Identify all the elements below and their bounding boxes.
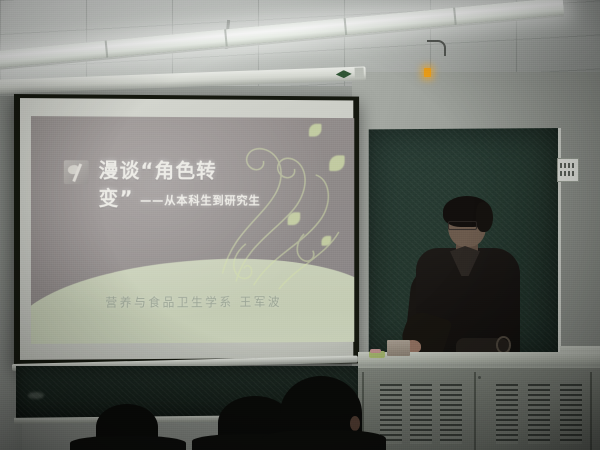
projector-screen: 漫谈“角色转 变” ——从本科生到研究生 营养与食品卫生学系 王军波 [14, 94, 359, 366]
student-shoulders-1 [70, 436, 186, 450]
pink-item-on-podium[interactable] [370, 349, 381, 353]
screen-surface: 漫谈“角色转 变” ——从本科生到研究生 营养与食品卫生学系 王军波 [20, 98, 353, 360]
podium-vent [410, 384, 432, 444]
student-shoulders-3 [262, 430, 386, 450]
podium-vent [560, 384, 582, 444]
presenter [392, 196, 532, 362]
presentation-slide: 漫谈“角色转 变” ——从本科生到研究生 营养与食品卫生学系 王军波 [31, 116, 354, 344]
wall-switch-panel[interactable] [557, 158, 579, 182]
slide-footer: 营养与食品卫生学系 王军波 [31, 293, 354, 311]
chalk-smudge [28, 392, 44, 399]
podium-vent [496, 384, 518, 444]
presenter-hair-side [476, 202, 493, 232]
slide-subtitle: ——从本科生到研究生 [140, 192, 260, 208]
student-ear [350, 416, 360, 431]
box-on-podium[interactable] [387, 340, 410, 356]
glasses-icon [448, 221, 477, 230]
slide-logo-icon [64, 160, 89, 184]
classroom-photo-scene: 漫谈“角色转 变” ——从本科生到研究生 营养与食品卫生学系 王军波 [0, 0, 600, 450]
housing-diamond-icon [336, 70, 352, 79]
housing-end-cap [355, 67, 364, 78]
lamp-cord [427, 40, 446, 56]
podium-body [358, 366, 600, 450]
slide-title-line1: 漫谈“角色转 [99, 156, 305, 185]
podium-vent [528, 384, 550, 444]
indicator-lamp-icon [424, 68, 431, 77]
podium-vent [440, 384, 462, 444]
